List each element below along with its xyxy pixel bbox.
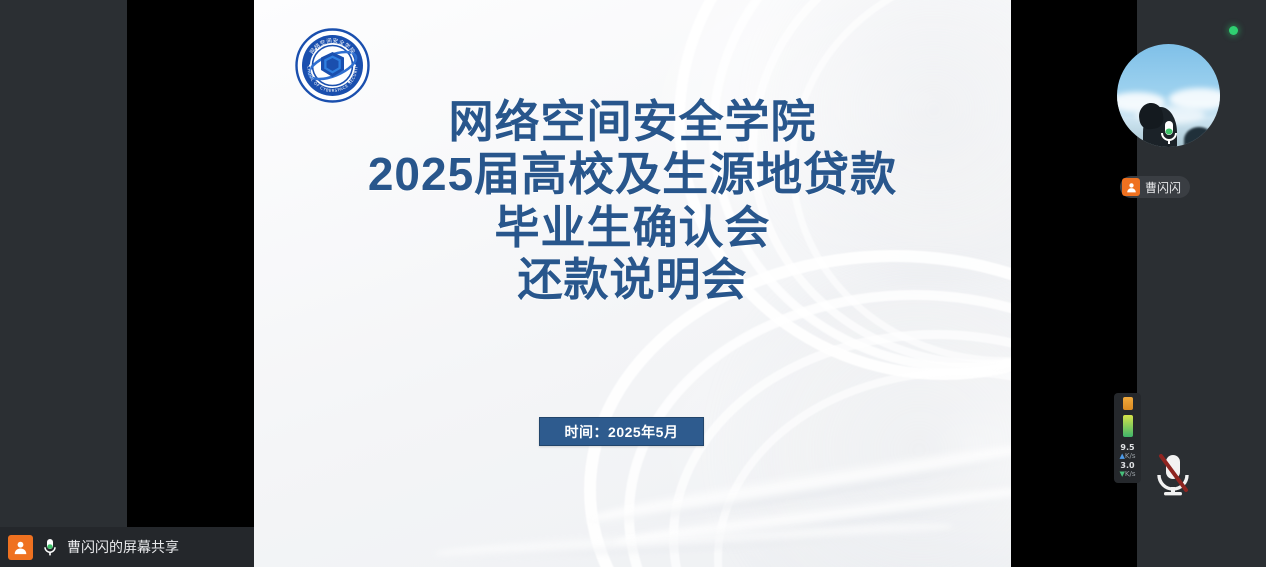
foliage-silhouette — [1184, 127, 1214, 147]
zoom-meeting-window: 网络空间安全学院 SCHOOL OF CYBERSPACE SECURITY 网… — [0, 0, 1266, 567]
participant-name-label: 曹闪闪 — [1145, 179, 1181, 196]
screen-share-label: 曹闪闪的屏幕共享 — [67, 537, 179, 557]
left-dark-rail — [0, 0, 127, 567]
connection-status-dot — [1229, 26, 1238, 35]
school-emblem-icon: 网络空间安全学院 SCHOOL OF CYBERSPACE SECURITY — [294, 27, 371, 104]
shared-slide[interactable]: 网络空间安全学院 SCHOOL OF CYBERSPACE SECURITY 网… — [254, 0, 1011, 567]
network-stats-panel: 9.5 ▲K/s 3.0 ▼K/s — [1114, 393, 1141, 483]
microphone-active-icon — [1158, 119, 1180, 147]
upload-bar-indicator — [1123, 397, 1133, 410]
microphone-muted-icon[interactable] — [1152, 450, 1194, 498]
upload-unit: K/s — [1125, 452, 1136, 460]
slide-title-block: 网络空间安全学院 2025届高校及生源地贷款 毕业生确认会 还款说明会 — [254, 96, 1011, 306]
person-icon — [8, 535, 33, 560]
screen-share-status-bar[interactable]: 曹闪闪的屏幕共享 — [0, 527, 254, 567]
download-unit: K/s — [1125, 470, 1136, 478]
slide-title-line-4: 还款说明会 — [254, 254, 1011, 306]
slide-title-line-3: 毕业生确认会 — [254, 202, 1011, 254]
download-unit-row: ▼K/s — [1120, 470, 1136, 478]
download-value: 3.0 — [1120, 461, 1136, 470]
microphone-icon[interactable] — [42, 537, 58, 557]
slide-title-line-1: 网络空间安全学院 — [254, 96, 1011, 148]
download-bar-indicator — [1123, 415, 1133, 437]
upload-stat: 9.5 ▲K/s — [1120, 443, 1136, 460]
participant-name-chip: 曹闪闪 — [1120, 176, 1190, 198]
upload-value: 9.5 — [1120, 443, 1136, 452]
person-icon — [1122, 178, 1140, 196]
download-stat: 3.0 ▼K/s — [1120, 461, 1136, 478]
participant-video-tile[interactable] — [1117, 44, 1220, 147]
slide-title-line-2: 2025届高校及生源地贷款 — [254, 148, 1011, 201]
slide-date-badge: 时间：2025年5月 — [539, 417, 704, 446]
upload-unit-row: ▲K/s — [1120, 452, 1136, 460]
